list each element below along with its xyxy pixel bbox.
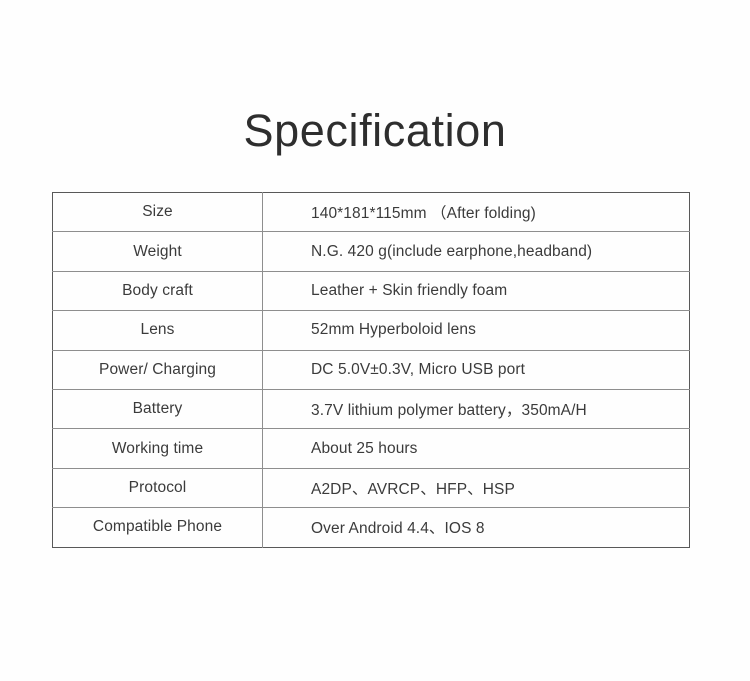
table-row: Battery 3.7V lithium polymer battery，350… — [53, 389, 690, 428]
spec-label: Lens — [53, 311, 263, 350]
table-row: Lens 52mm Hyperboloid lens — [53, 311, 690, 350]
spec-value: DC 5.0V±0.3V, Micro USB port — [263, 350, 690, 389]
spec-label: Protocol — [53, 468, 263, 507]
page-title: Specification — [0, 108, 750, 153]
table-row: Size 140*181*115mm （After folding) — [53, 193, 690, 232]
specification-table-body: Size 140*181*115mm （After folding) Weigh… — [53, 193, 690, 548]
spec-value: 140*181*115mm （After folding) — [263, 193, 690, 232]
specification-table: Size 140*181*115mm （After folding) Weigh… — [52, 192, 690, 548]
spec-label: Power/ Charging — [53, 350, 263, 389]
table-row: Power/ Charging DC 5.0V±0.3V, Micro USB … — [53, 350, 690, 389]
spec-value: 3.7V lithium polymer battery，350mA/H — [263, 389, 690, 428]
spec-label: Compatible Phone — [53, 508, 263, 547]
spec-label: Size — [53, 193, 263, 232]
spec-value: A2DP、AVRCP、HFP、HSP — [263, 468, 690, 507]
table-row: Weight N.G. 420 g(include earphone,headb… — [53, 232, 690, 271]
spec-value: Over Android 4.4、IOS 8 — [263, 508, 690, 547]
table-row: Body craft Leather + Skin friendly foam — [53, 271, 690, 310]
spec-value: About 25 hours — [263, 429, 690, 468]
spec-value: 52mm Hyperboloid lens — [263, 311, 690, 350]
spec-label: Working time — [53, 429, 263, 468]
spec-label: Body craft — [53, 271, 263, 310]
spec-value: Leather + Skin friendly foam — [263, 271, 690, 310]
spec-label: Weight — [53, 232, 263, 271]
spec-label: Battery — [53, 389, 263, 428]
specification-page: Specification Size 140*181*115mm （After … — [0, 0, 750, 681]
table-row: Protocol A2DP、AVRCP、HFP、HSP — [53, 468, 690, 507]
table-row: Compatible Phone Over Android 4.4、IOS 8 — [53, 508, 690, 547]
table-row: Working time About 25 hours — [53, 429, 690, 468]
spec-value: N.G. 420 g(include earphone,headband) — [263, 232, 690, 271]
